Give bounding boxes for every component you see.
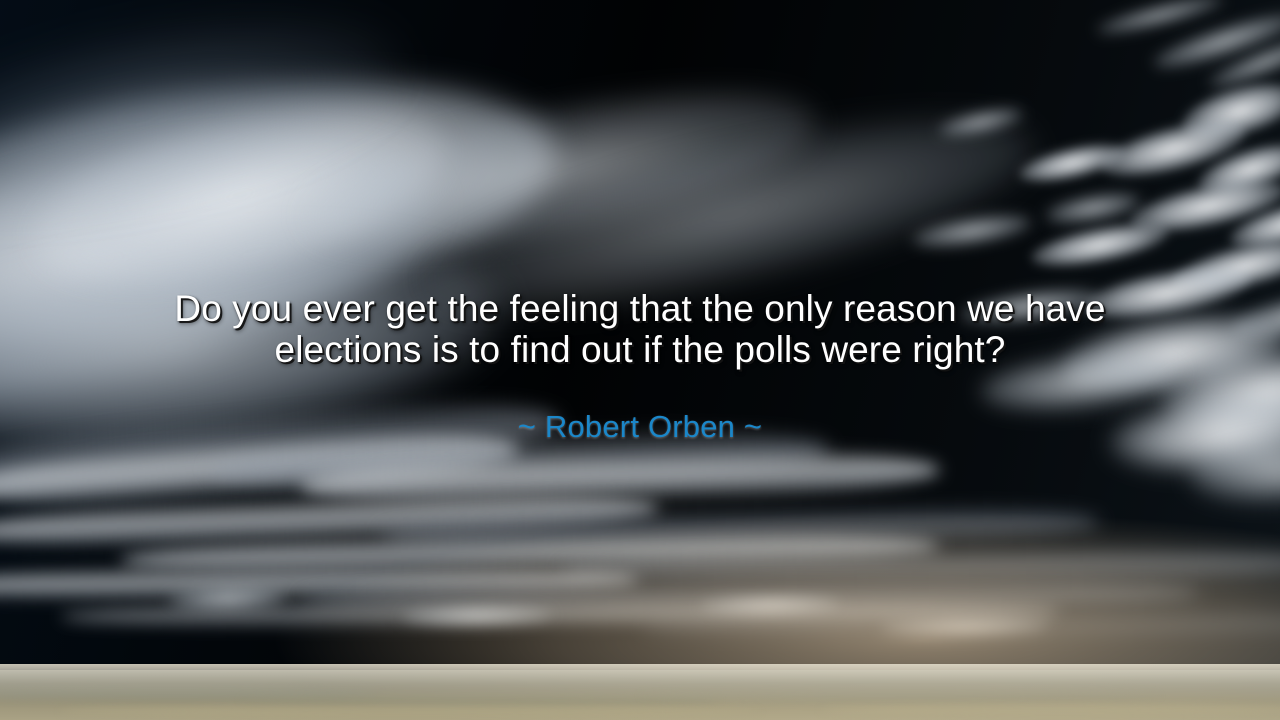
ground-atmospheric-haze [0,664,1280,720]
quote-attribution: ~ Robert Orben ~ [0,409,1280,445]
quote-text-block: Do you ever get the feeling that the onl… [0,288,1280,370]
quote-line-2: elections is to find out if the polls we… [0,329,1280,370]
quote-card-stage: Do you ever get the feeling that the onl… [0,0,1280,720]
quote-line-1: Do you ever get the feeling that the onl… [0,288,1280,329]
